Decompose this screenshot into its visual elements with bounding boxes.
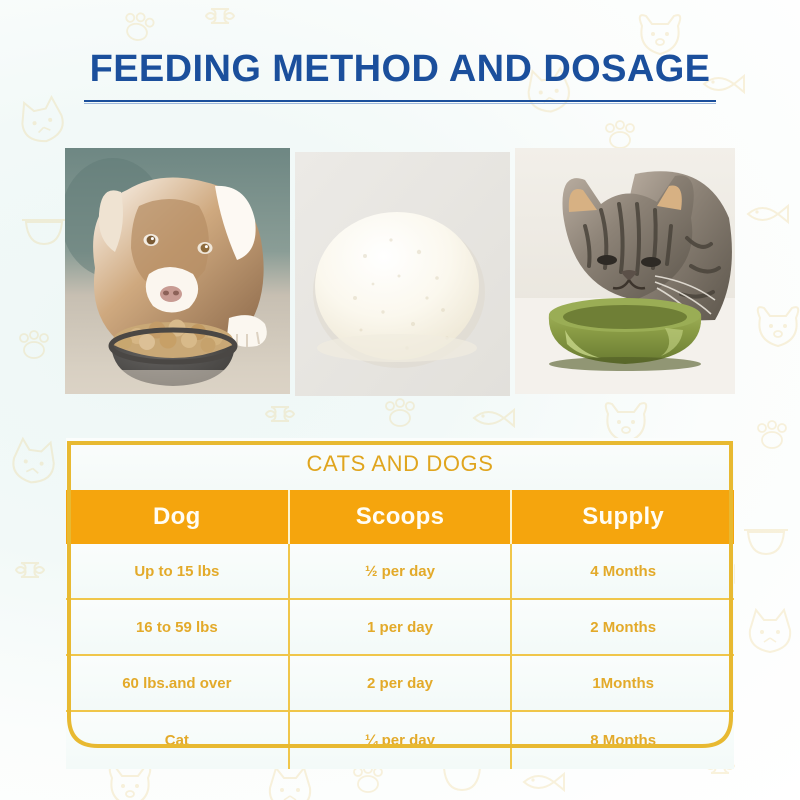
- cell-animal: 60 lbs.and over: [66, 655, 289, 711]
- cell-scoops: ½ per day: [289, 544, 512, 599]
- column-header-dog: Dog: [66, 490, 289, 544]
- page-title-text: FEEDING METHOD AND DOSAGE: [88, 48, 713, 98]
- table-caption-cell: CATS AND DOGS: [66, 438, 734, 490]
- cat-eating-from-green-bowl-photo: [515, 148, 735, 394]
- cell-scoops: ¼ per day: [289, 711, 512, 769]
- table-row: Cat ¼ per day 8 Months: [66, 711, 734, 769]
- column-header-scoops: Scoops: [289, 490, 512, 544]
- title-underline-shadow: [84, 103, 716, 104]
- table-row: 16 to 59 lbs 1 per day 2 Months: [66, 599, 734, 655]
- page-title: FEEDING METHOD AND DOSAGE: [0, 48, 800, 98]
- white-powder-supplement-photo: [295, 152, 510, 396]
- cell-supply: 1Months: [511, 655, 734, 711]
- table-header-row: Dog Scoops Supply: [66, 490, 734, 544]
- cell-supply: 2 Months: [511, 599, 734, 655]
- title-underline: [84, 100, 716, 102]
- feeding-dosage-table: CATS AND DOGS Dog Scoops Supply Up to 15…: [66, 438, 734, 749]
- cell-scoops: 1 per day: [289, 599, 512, 655]
- photo-strip: [65, 148, 735, 396]
- table-row: Up to 15 lbs ½ per day 4 Months: [66, 544, 734, 599]
- table-row: 60 lbs.and over 2 per day 1Months: [66, 655, 734, 711]
- cell-scoops: 2 per day: [289, 655, 512, 711]
- dosage-table: CATS AND DOGS Dog Scoops Supply Up to 15…: [66, 438, 734, 769]
- cell-animal: Up to 15 lbs: [66, 544, 289, 599]
- feeding-dosage-poster: FEEDING METHOD AND DOSAGE: [0, 0, 800, 800]
- column-header-supply: Supply: [511, 490, 734, 544]
- cell-supply: 4 Months: [511, 544, 734, 599]
- cell-supply: 8 Months: [511, 711, 734, 769]
- cell-animal: Cat: [66, 711, 289, 769]
- table-caption-row: CATS AND DOGS: [66, 438, 734, 490]
- cell-animal: 16 to 59 lbs: [66, 599, 289, 655]
- dog-eating-from-bowl-photo: [65, 148, 290, 394]
